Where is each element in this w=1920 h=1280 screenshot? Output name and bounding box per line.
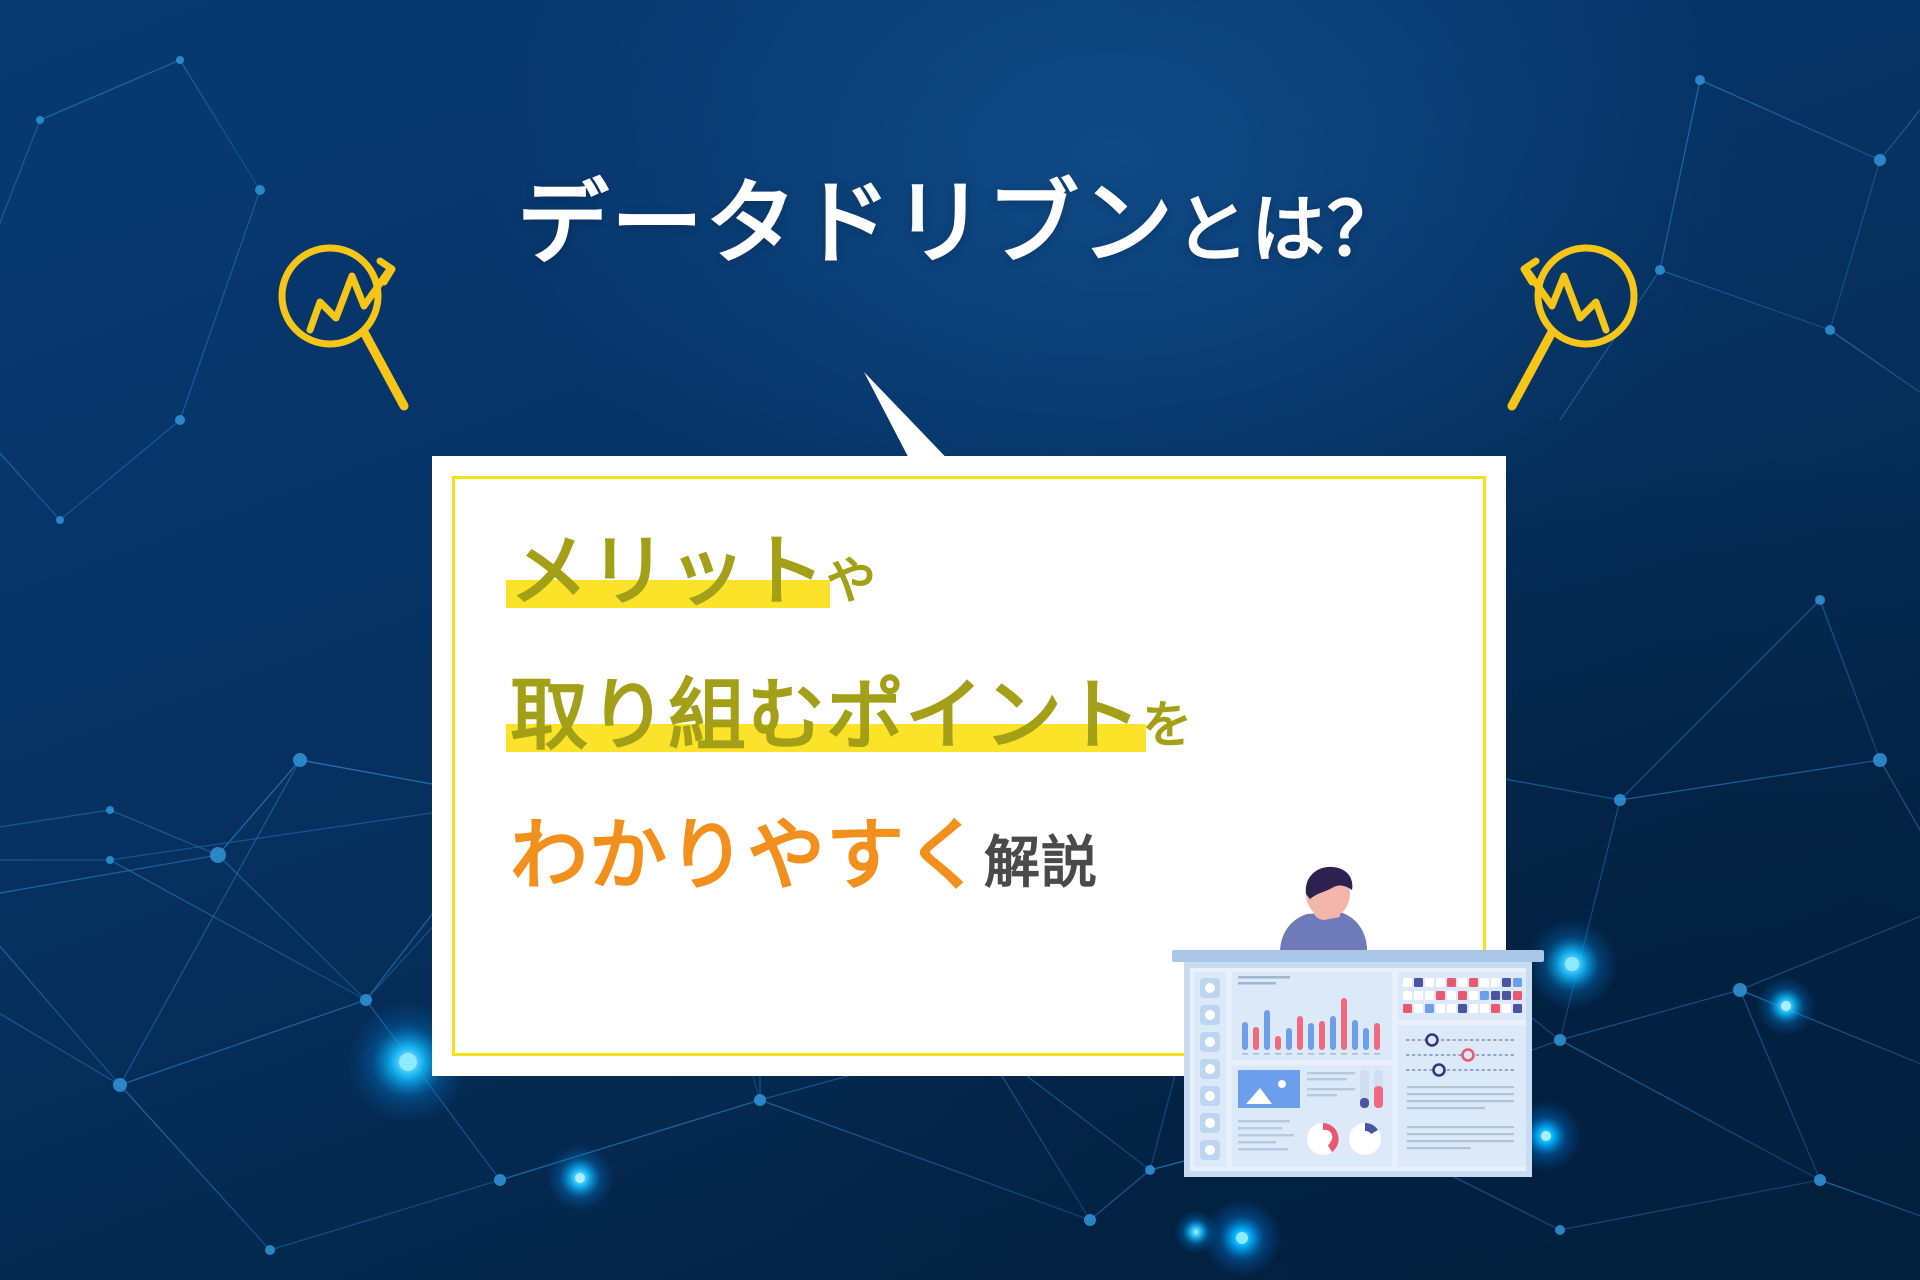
card-line-3-trailing: 解説 xyxy=(984,831,1098,894)
title-main: データドリブン xyxy=(517,173,1175,275)
card-line-3-emphasis: わかりやすく xyxy=(510,811,984,899)
card-line-1-keyword: メリット xyxy=(510,527,826,615)
highlight-points: 取り組むポイント xyxy=(510,676,1142,754)
card-text-block: メリット や 取り組むポイント を わかりやすく解説 xyxy=(510,524,1446,894)
page-title: データドリブンとは？ xyxy=(0,178,1920,270)
banner-stage: データドリブンとは？ メリット や 取り組むポイント を わかりやすく解説 xyxy=(0,0,1920,1280)
dashboard-top-bar xyxy=(1172,950,1544,962)
card-line-1-trailing: や xyxy=(826,553,877,609)
bar-chart-panel xyxy=(1232,972,1392,1060)
slider-dots-panel xyxy=(1398,1025,1526,1167)
analyst-dashboard-illustration xyxy=(1162,862,1554,1200)
sidebar-toggle-list xyxy=(1194,972,1226,1167)
card-line-2-trailing: を xyxy=(1142,697,1193,753)
card-line-2: 取り組むポイント を xyxy=(510,676,1446,754)
image-and-donut-panel xyxy=(1232,1065,1392,1167)
card-line-1: メリット や xyxy=(510,532,1446,610)
highlight-merit: メリット xyxy=(510,532,826,610)
title-suffix: とは？ xyxy=(1175,188,1403,271)
donut-navy xyxy=(1349,1123,1381,1155)
donut-red xyxy=(1307,1123,1339,1155)
color-grid-panel xyxy=(1398,972,1526,1020)
card-line-2-keyword: 取り組むポイント xyxy=(510,671,1142,759)
